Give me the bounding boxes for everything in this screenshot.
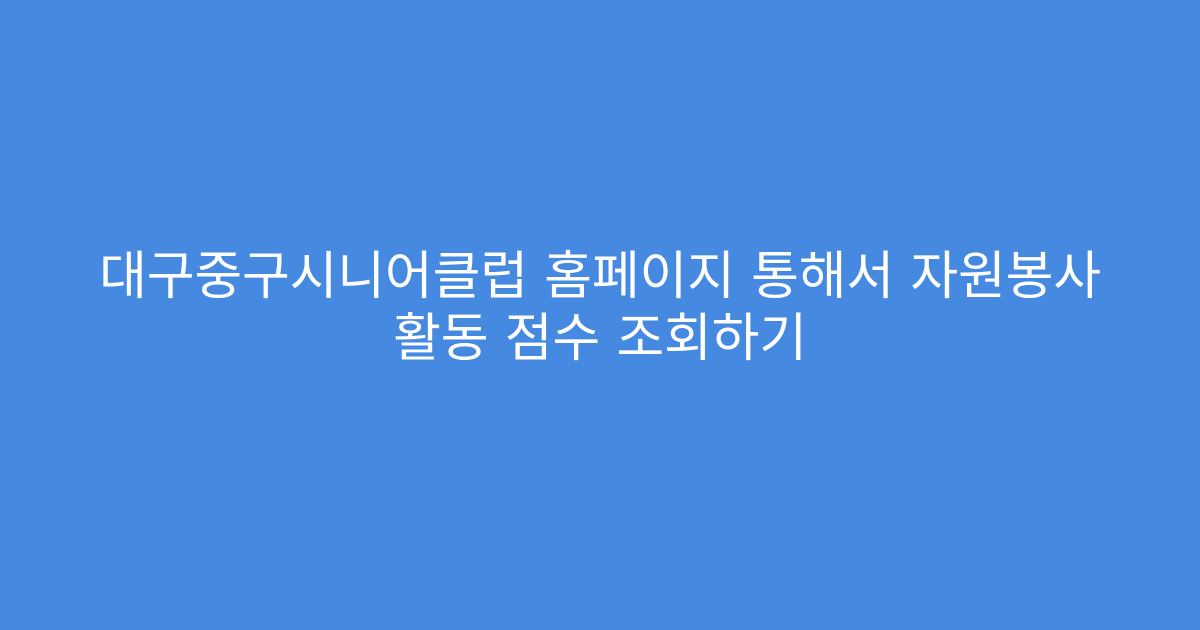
og-image-card: 대구중구시니어클럽 홈페이지 통해서 자원봉사 활동 점수 조회하기 [0, 0, 1200, 630]
page-title: 대구중구시니어클럽 홈페이지 통해서 자원봉사 활동 점수 조회하기 [70, 246, 1130, 370]
headline-container: 대구중구시니어클럽 홈페이지 통해서 자원봉사 활동 점수 조회하기 [70, 246, 1130, 370]
